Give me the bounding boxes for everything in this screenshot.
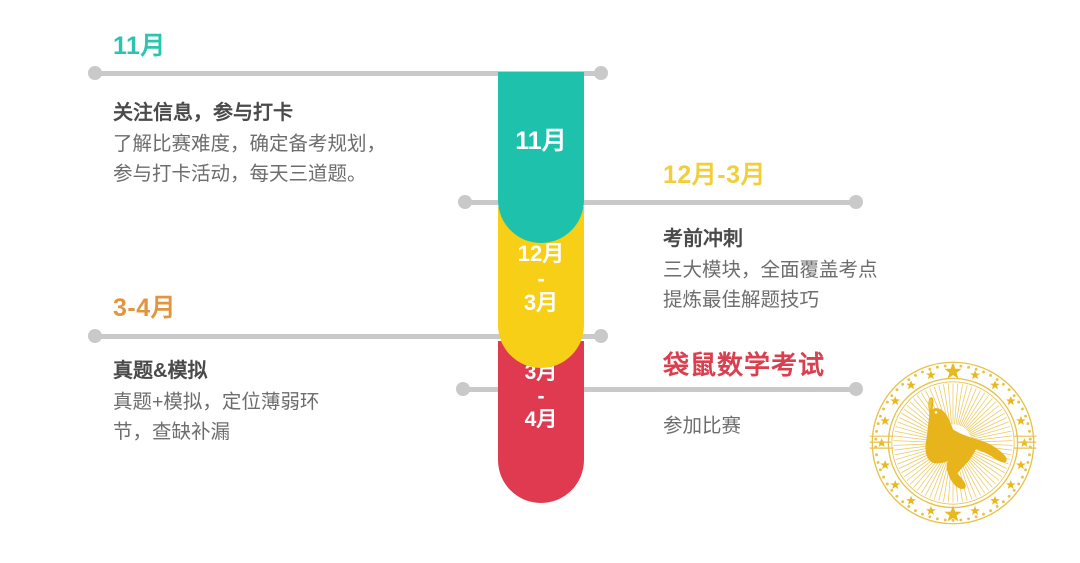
ribbon-segment-nov[interactable]: 11月	[498, 72, 584, 243]
connector-dot-nov-right	[594, 66, 608, 80]
block-nov-title: 关注信息，参与打卡	[113, 96, 386, 125]
timeline-block-exam: 袋鼠数学考试 参加比赛	[663, 345, 825, 442]
block-dec-title: 考前冲刺	[663, 222, 878, 251]
connector-dot-exam-left	[456, 382, 470, 396]
block-nov-body: 了解比赛难度，确定备考规划， 参与打卡活动，每天三道题。	[113, 130, 386, 189]
connector-dot-mar-left	[88, 329, 102, 343]
connector-dot-nov-left	[88, 66, 102, 80]
block-nov-heading: 11月	[113, 26, 386, 62]
block-exam-heading: 袋鼠数学考试	[663, 345, 825, 382]
connector-dot-mar-right	[594, 329, 608, 343]
block-dec-heading: 12月-3月	[663, 155, 878, 191]
connector-dot-exam-right	[849, 382, 863, 396]
timeline-block-mar: 3-4月 真题&模拟 真题+模拟，定位薄弱环 节，查缺补漏	[113, 288, 319, 447]
connector-dot-dec-left	[458, 195, 472, 209]
timeline-block-nov: 11月 关注信息，参与打卡 了解比赛难度，确定备考规划， 参与打卡活动，每天三道…	[113, 26, 386, 189]
block-exam-body: 参加比赛	[663, 412, 825, 442]
block-dec-body: 三大模块，全面覆盖考点 提炼最佳解题技巧	[663, 256, 878, 315]
timeline-block-dec: 12月-3月 考前冲刺 三大模块，全面覆盖考点 提炼最佳解题技巧	[663, 155, 878, 315]
block-mar-heading: 3-4月	[113, 288, 319, 324]
block-mar-title: 真题&模拟	[113, 354, 319, 383]
block-mar-body: 真题+模拟，定位薄弱环 节，查缺补漏	[113, 388, 319, 447]
ribbon-segment-nov-label: 11月	[498, 72, 584, 155]
kangaroo-seal-icon	[868, 358, 1038, 528]
timeline-infographic: 3月 - 4月 12月 - 3月 11月 11月 关注信息，参与打卡 了解比赛难…	[0, 0, 1080, 563]
